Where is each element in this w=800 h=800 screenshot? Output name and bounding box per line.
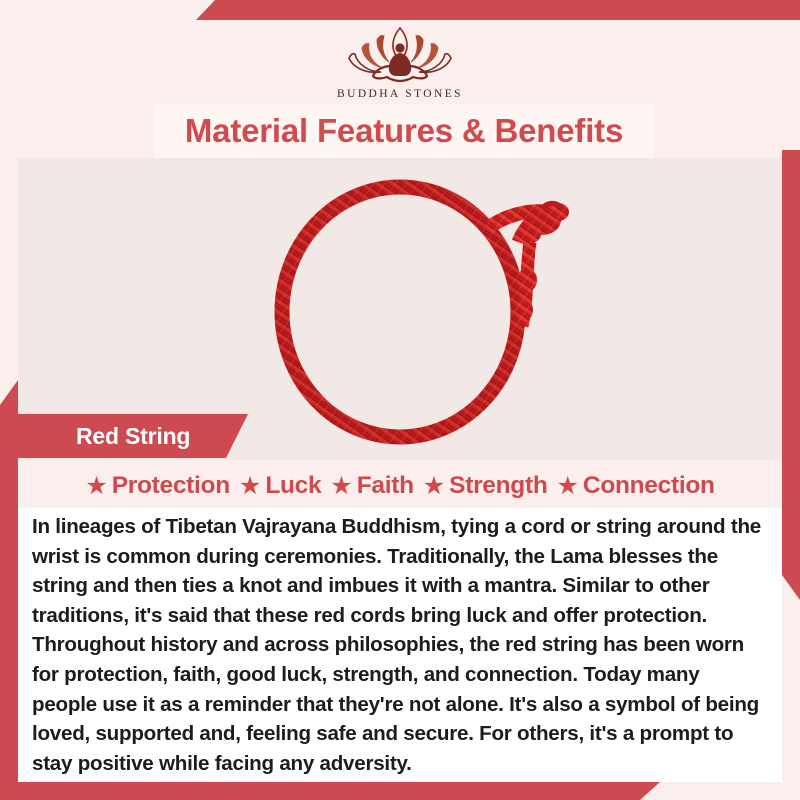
product-label-banner: Red String [18, 414, 248, 458]
feature-label: Strength [449, 472, 547, 500]
feature-item-luck: ★ Luck [239, 472, 321, 500]
brand-name: BUDDHA STONES [337, 88, 463, 100]
feature-label: Protection [112, 472, 230, 500]
star-icon: ★ [85, 474, 107, 499]
page-title: Material Features & Benefits [185, 112, 623, 150]
description-text: In lineages of Tibetan Vajrayana Buddhis… [32, 512, 768, 778]
feature-item-connection: ★ Connection [557, 472, 715, 500]
product-label-text: Red String [76, 423, 190, 450]
features-row: ★ Protection ★ Luck ★ Faith ★ Strength ★… [18, 466, 782, 506]
title-banner: Material Features & Benefits [154, 104, 654, 158]
star-icon: ★ [330, 474, 352, 499]
feature-label: Luck [265, 472, 321, 500]
top-red-band [0, 0, 800, 20]
star-icon: ★ [423, 474, 445, 499]
star-icon: ★ [557, 474, 579, 499]
star-icon: ★ [239, 474, 261, 499]
bottom-red-band [0, 782, 800, 800]
infographic-canvas: BUDDHA STONES Material Features & Benefi… [0, 0, 800, 800]
description-card: In lineages of Tibetan Vajrayana Buddhis… [18, 508, 782, 782]
feature-item-strength: ★ Strength [423, 472, 548, 500]
brand-logo: BUDDHA STONES [325, 22, 475, 100]
lotus-meditation-icon [325, 22, 475, 86]
feature-label: Faith [357, 472, 414, 500]
feature-label: Connection [583, 472, 715, 500]
left-red-strip [0, 190, 18, 800]
feature-item-faith: ★ Faith [330, 472, 413, 500]
feature-item-protection: ★ Protection [85, 472, 230, 500]
